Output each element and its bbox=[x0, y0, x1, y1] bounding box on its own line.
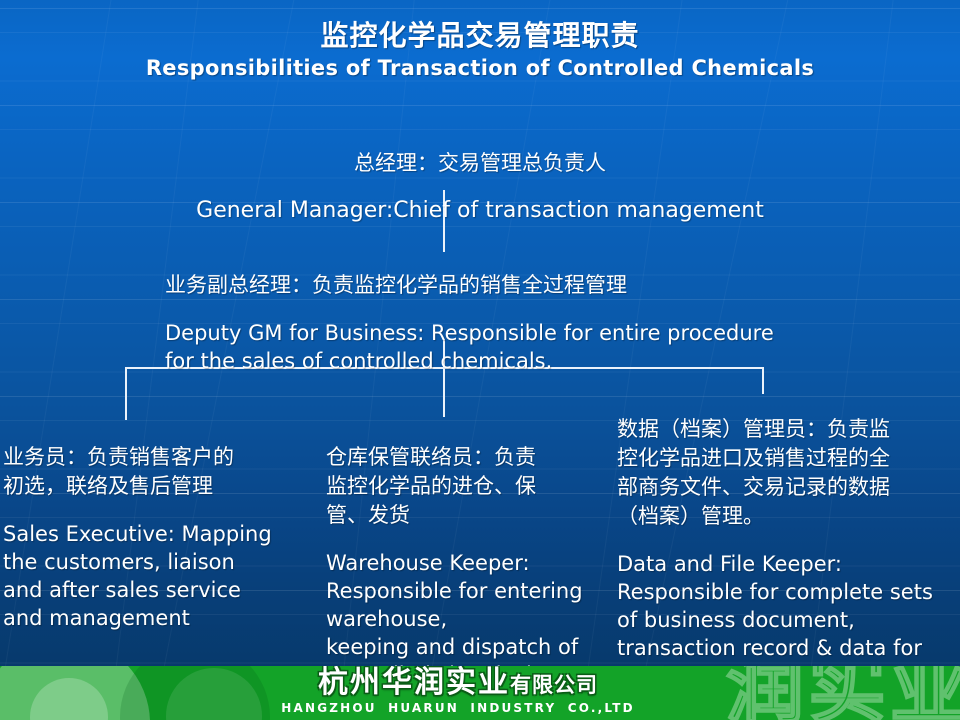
node-deputy-gm-cn: 业务副总经理：负责监控化学品的销售全过程管理 bbox=[165, 271, 825, 300]
slide-canvas: 监控化学品交易管理职责 Responsibilities of Transact… bbox=[0, 0, 960, 720]
node-general-manager: 总经理：交易管理总负责人 General Manager:Chief of tr… bbox=[0, 130, 960, 244]
company-logo: 杭州华润实业有限公司 HANGZHOU HUARUN INDUSTRY CO.,… bbox=[198, 668, 718, 715]
node-general-manager-cn: 总经理：交易管理总负责人 bbox=[0, 149, 960, 178]
connector-drop-sales bbox=[125, 367, 127, 420]
node-deputy-gm: 业务副总经理：负责监控化学品的销售全过程管理 Deputy GM for Bus… bbox=[165, 252, 825, 394]
page-title-cn: 监控化学品交易管理职责 bbox=[0, 22, 960, 50]
node-general-manager-en: General Manager:Chief of transaction man… bbox=[0, 197, 960, 225]
page-title-en: Responsibilities of Transaction of Contr… bbox=[0, 58, 960, 79]
banner-watermark-cn: 润实业 bbox=[726, 666, 960, 720]
company-name-cn: 杭州华润实业有限公司 bbox=[198, 668, 718, 700]
node-sales-executive-en: Sales Executive: Mapping the customers, … bbox=[3, 520, 303, 632]
node-warehouse-keeper-cn: 仓库保管联络员：负责 监控化学品的进仓、保 管、发货 bbox=[326, 443, 616, 530]
node-sales-executive: 业务员：负责销售客户的 初选，联络及售后管理 Sales Executive: … bbox=[3, 424, 303, 651]
node-deputy-gm-en: Deputy GM for Business: Responsible for … bbox=[165, 319, 825, 375]
node-data-file-keeper-cn: 数据（档案）管理员：负责监 控化学品进口及销售过程的全 部商务文件、交易记录的数… bbox=[617, 415, 953, 531]
slide-title: 监控化学品交易管理职责 Responsibilities of Transact… bbox=[0, 22, 960, 79]
company-name-cn-suffix: 有限公司 bbox=[510, 673, 598, 697]
company-name-cn-main: 杭州华润实业 bbox=[318, 666, 510, 700]
node-sales-executive-cn: 业务员：负责销售客户的 初选，联络及售后管理 bbox=[3, 443, 303, 501]
footer-banner: 润实业 杭州华润实业有限公司 HANGZHOU HUARUN INDUSTRY … bbox=[0, 666, 960, 720]
company-name-en: HANGZHOU HUARUN INDUSTRY CO.,LTD bbox=[198, 701, 718, 715]
